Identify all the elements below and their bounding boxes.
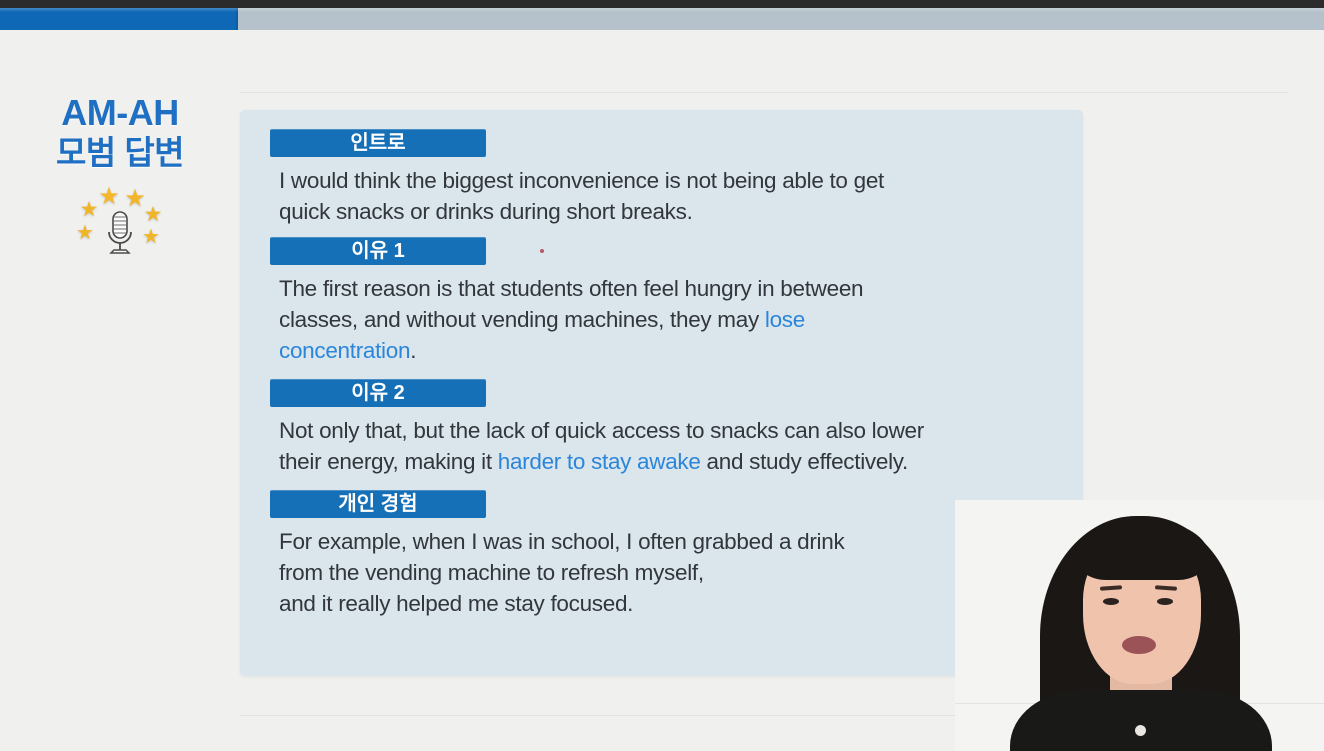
answer-line: I would think the biggest inconvenience …	[279, 165, 1069, 196]
star-icon: ★	[78, 199, 100, 221]
star-icon: ★	[98, 186, 120, 208]
presenter-eye-right	[1157, 598, 1173, 605]
answer-line: from the vending machine to refresh myse…	[279, 557, 1069, 588]
star-icon: ★	[74, 222, 96, 244]
answer-text: and it really helped me stay focused.	[279, 591, 633, 616]
answer-text: The first reason is that students often …	[279, 276, 863, 301]
answer-line: and it really helped me stay focused.	[279, 588, 1069, 619]
section-reason-1: 이유 1 The first reason is that students o…	[240, 237, 1083, 366]
answer-text: classes, and without vending machines, t…	[279, 307, 765, 332]
answer-line: classes, and without vending machines, t…	[279, 304, 1069, 335]
video-progress-bar[interactable]	[0, 8, 1324, 30]
answer-text: For example, when I was in school, I oft…	[279, 529, 844, 554]
section-label-text: 이유 1	[351, 240, 404, 262]
slide-title-block: AM-AH 모범 답변 ★ ★ ★ ★ ★ ★	[0, 92, 240, 258]
answer-text: their energy, making it	[279, 449, 498, 474]
answer-line: their energy, making it harder to stay a…	[279, 446, 1069, 477]
section-body-reason-1: The first reason is that students often …	[279, 273, 1069, 366]
section-label-reason-2: 이유 2	[270, 379, 486, 407]
presenter-video-overlay	[955, 500, 1324, 751]
answer-text-highlight: harder to stay awake	[498, 449, 701, 474]
marker-dot-icon	[540, 249, 544, 253]
answer-line: concentration.	[279, 335, 1069, 366]
presenter-body	[1010, 690, 1272, 751]
page-title-kr: 모범 답변	[0, 134, 240, 172]
section-gap	[240, 227, 1083, 237]
answer-text-highlight: concentration	[279, 338, 410, 363]
answer-text: quick snacks or drinks during short brea…	[279, 199, 693, 224]
award-emblem: ★ ★ ★ ★ ★ ★	[72, 186, 168, 258]
answer-text: Not only that, but the lack of quick acc…	[279, 418, 924, 443]
star-icon: ★	[142, 204, 164, 226]
section-gap	[240, 477, 1083, 490]
answer-text: .	[410, 338, 416, 363]
star-icon: ★	[140, 226, 162, 248]
presenter-eye-left	[1103, 598, 1119, 605]
section-body-intro: I would think the biggest inconvenience …	[279, 165, 1069, 227]
section-reason-2: 이유 2 Not only that, but the lack of quic…	[240, 379, 1083, 477]
answer-line: The first reason is that students often …	[279, 273, 1069, 304]
answer-text: I would think the biggest inconvenience …	[279, 168, 884, 193]
answer-line: quick snacks or drinks during short brea…	[279, 196, 1069, 227]
divider-top	[240, 92, 1288, 93]
answer-line: For example, when I was in school, I oft…	[279, 526, 1069, 557]
answer-text: and study effectively.	[701, 449, 908, 474]
section-label-reason-1: 이유 1	[270, 237, 486, 265]
answer-text-highlight: lose	[765, 307, 805, 332]
player-top-bar	[0, 0, 1324, 8]
presenter-button-upper	[1135, 725, 1146, 736]
answer-line: Not only that, but the lack of quick acc…	[279, 415, 1069, 446]
section-body-experience: For example, when I was in school, I oft…	[279, 526, 1069, 619]
microphone-icon	[105, 210, 135, 256]
page-title-en: AM-AH	[0, 92, 240, 133]
section-label-intro: 인트로	[270, 129, 486, 157]
section-body-reason-2: Not only that, but the lack of quick acc…	[279, 415, 1069, 477]
slide-canvas: AM-AH 모범 답변 ★ ★ ★ ★ ★ ★	[0, 30, 1324, 751]
video-progress-fill	[0, 8, 238, 30]
presenter-fringe	[1075, 522, 1209, 580]
presenter-mouth	[1122, 636, 1156, 654]
section-intro: 인트로 I would think the biggest inconvenie…	[240, 129, 1083, 227]
section-label-experience: 개인 경험	[270, 490, 486, 518]
answer-text: from the vending machine to refresh myse…	[279, 560, 704, 585]
section-gap	[240, 366, 1083, 379]
